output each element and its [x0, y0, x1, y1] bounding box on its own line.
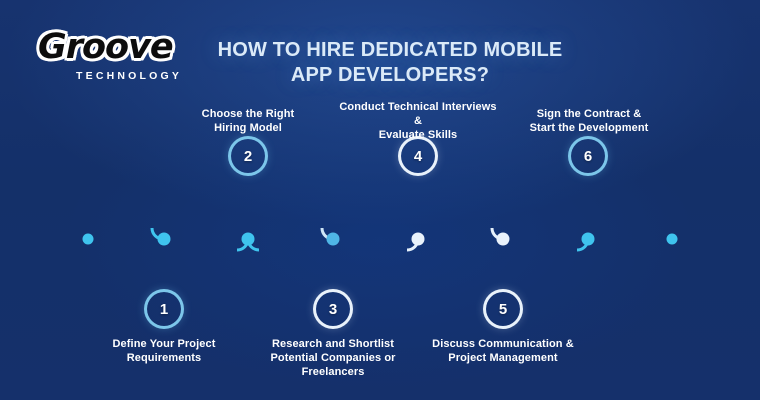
step-node-number-6: 6: [571, 139, 605, 173]
step-label-4-line-1: Conduct Technical Interviews: [327, 100, 509, 114]
infographic-canvas: Groove TECHNOLOGY HOW TO HIRE DEDICATED …: [0, 0, 760, 400]
step-label-2: Choose the Right Hiring Model: [178, 107, 318, 135]
timeline-node-dot-1: [158, 233, 171, 246]
step-label-4-line-3: Evaluate Skills: [327, 128, 509, 142]
step-label-1: Define Your Project Requirements: [84, 337, 244, 365]
step-label-3: Research and Shortlist Potential Compani…: [253, 337, 413, 379]
step-node-3[interactable]: 3: [316, 292, 350, 326]
step-node-number-3: 3: [316, 292, 350, 326]
step-node-6[interactable]: 6: [571, 139, 605, 173]
step-label-5-line-2: Project Management: [413, 351, 593, 365]
timeline-node-dot-6: [582, 233, 595, 246]
step-node-5[interactable]: 5: [486, 292, 520, 326]
step-label-2-line-2: Hiring Model: [178, 121, 318, 135]
step-node-4[interactable]: 4: [401, 139, 435, 173]
step-label-5: Discuss Communication & Project Manageme…: [413, 337, 593, 365]
step-node-2[interactable]: 2: [231, 139, 265, 173]
step-label-4: Conduct Technical Interviews & Evaluate …: [327, 100, 509, 142]
step-node-number-5: 5: [486, 292, 520, 326]
step-label-5-line-1: Discuss Communication &: [413, 337, 593, 351]
timeline-end-dot-left: [83, 234, 94, 245]
step-label-6-line-2: Start the Development: [508, 121, 670, 135]
timeline-end-dot-right: [667, 234, 678, 245]
step-node-1[interactable]: 1: [147, 292, 181, 326]
timeline-node-dot-4: [412, 233, 425, 246]
step-label-6-line-1: Sign the Contract &: [508, 107, 670, 121]
timeline-node-dot-3: [327, 233, 340, 246]
step-label-3-line-3: Freelancers: [253, 365, 413, 379]
step-label-3-line-2: Potential Companies or: [253, 351, 413, 365]
timeline-node-dot-5: [497, 233, 510, 246]
step-label-2-line-1: Choose the Right: [178, 107, 318, 121]
step-label-3-line-1: Research and Shortlist: [253, 337, 413, 351]
step-label-4-line-2: &: [327, 114, 509, 128]
step-label-6: Sign the Contract & Start the Developmen…: [508, 107, 670, 135]
step-node-number-1: 1: [147, 292, 181, 326]
step-label-1-line-1: Define Your Project: [84, 337, 244, 351]
timeline-node-dot-2: [242, 233, 255, 246]
step-label-1-line-2: Requirements: [84, 351, 244, 365]
step-node-number-4: 4: [401, 139, 435, 173]
step-node-number-2: 2: [231, 139, 265, 173]
